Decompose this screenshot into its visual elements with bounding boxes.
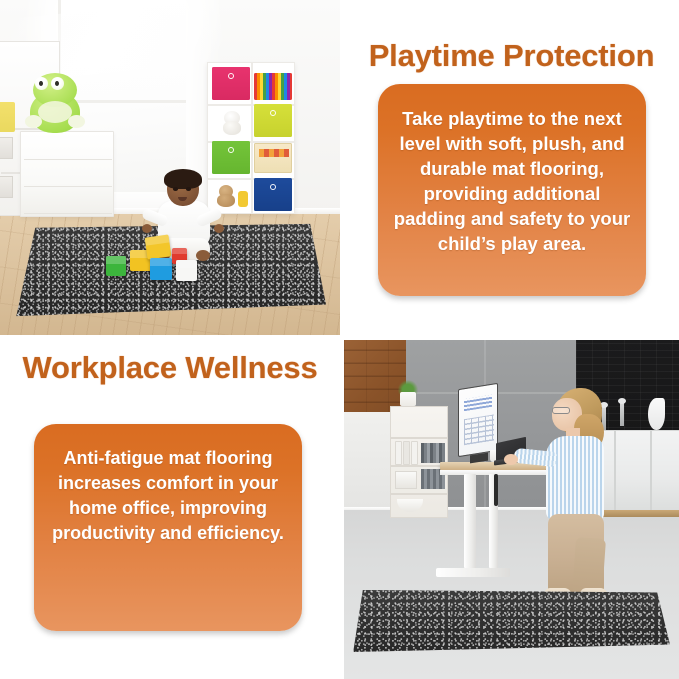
- plant-pot: [400, 392, 416, 406]
- storage-bin-lime: [254, 104, 292, 137]
- books-row: [254, 73, 292, 100]
- office-scene: [344, 340, 679, 679]
- toy-block-green: [106, 256, 126, 276]
- shelf-basket-upper: [0, 137, 13, 159]
- baby-hand-left: [142, 224, 152, 233]
- binder: [395, 441, 402, 465]
- bin-grommet-icon: [270, 110, 276, 116]
- monitor-screen: [458, 383, 498, 457]
- eyeglasses-icon: [552, 407, 570, 414]
- storage-bin-navy: [254, 178, 292, 211]
- desk-leg-column: [464, 474, 476, 568]
- shelf-bin-yellow: [0, 102, 15, 132]
- candlestick: [620, 402, 624, 426]
- frog-arm-right: [68, 115, 85, 128]
- white-dresser: [20, 131, 114, 217]
- workplace-card: Anti-fatigue mat flooring increases comf…: [34, 424, 302, 631]
- frog-plush-toy: [22, 73, 88, 133]
- dresser-drawer: [24, 163, 112, 187]
- baby-eye-right: [186, 187, 191, 191]
- storage-bin-pink: [212, 67, 250, 100]
- cabinet-divider: [650, 431, 652, 511]
- bin-grommet-icon: [228, 147, 234, 153]
- playtime-card: Take playtime to the next level with sof…: [378, 84, 646, 296]
- workplace-headline: Workplace Wellness: [0, 350, 340, 386]
- toy-block-blue: [150, 258, 172, 280]
- desk-foot-base: [436, 568, 510, 577]
- stacked-books: [421, 443, 445, 463]
- toy-block-yellow-top: [145, 234, 172, 259]
- frog-belly: [38, 101, 72, 123]
- desk-cable: [494, 474, 498, 506]
- workplace-body-text: Anti-fatigue mat flooring increases comf…: [34, 424, 302, 546]
- anti-fatigue-mat: [350, 590, 670, 652]
- photo-panel-office: [344, 340, 679, 679]
- baby-hand-right: [214, 224, 224, 233]
- monitor-stand: [470, 453, 488, 464]
- text-panel-playtime: Playtime Protection Take playtime to the…: [344, 0, 679, 335]
- shelf-basket-lower: [0, 176, 13, 198]
- photo-panel-nursery: [0, 0, 340, 335]
- baby-foot-right: [196, 250, 210, 261]
- baby-eye-left: [173, 187, 178, 191]
- playtime-body-text: Take playtime to the next level with sof…: [378, 84, 646, 256]
- infographic-board: Playtime Protection Take playtime to the…: [0, 0, 679, 679]
- shelf-board: [391, 437, 447, 439]
- dresser-drawer: [24, 136, 112, 160]
- frog-pupil-left: [39, 81, 43, 86]
- binder: [411, 441, 418, 465]
- woman-shirt: [546, 436, 604, 520]
- text-panel-workplace: Workplace Wellness Anti-fatigue mat floo…: [0, 340, 340, 679]
- standing-woman: [532, 388, 618, 578]
- playtime-headline: Playtime Protection: [344, 38, 679, 74]
- baby-hair: [164, 169, 202, 189]
- dog-plush-toy: [222, 111, 242, 135]
- storage-bin-green: [212, 141, 250, 174]
- shelf-board: [391, 465, 447, 467]
- nursery-scene: [0, 0, 340, 335]
- toy-block-white: [176, 260, 197, 281]
- shelf-divider-vertical: [251, 63, 253, 213]
- shelf-board: [391, 493, 447, 495]
- dog-body: [223, 121, 241, 135]
- storage-box: [395, 471, 417, 489]
- woman-hand: [504, 454, 518, 465]
- bin-grommet-icon: [270, 184, 276, 190]
- yellow-toy: [238, 191, 248, 207]
- decor-vase: [648, 398, 665, 430]
- decor-bowl: [397, 499, 423, 512]
- cube-storage-shelf: [207, 62, 295, 214]
- frog-pupil-right: [55, 81, 59, 86]
- binder: [403, 441, 410, 465]
- frog-arm-left: [25, 115, 42, 128]
- bin-grommet-icon: [228, 73, 234, 79]
- dresser-drawer: [24, 190, 112, 214]
- toy-box: [254, 143, 292, 173]
